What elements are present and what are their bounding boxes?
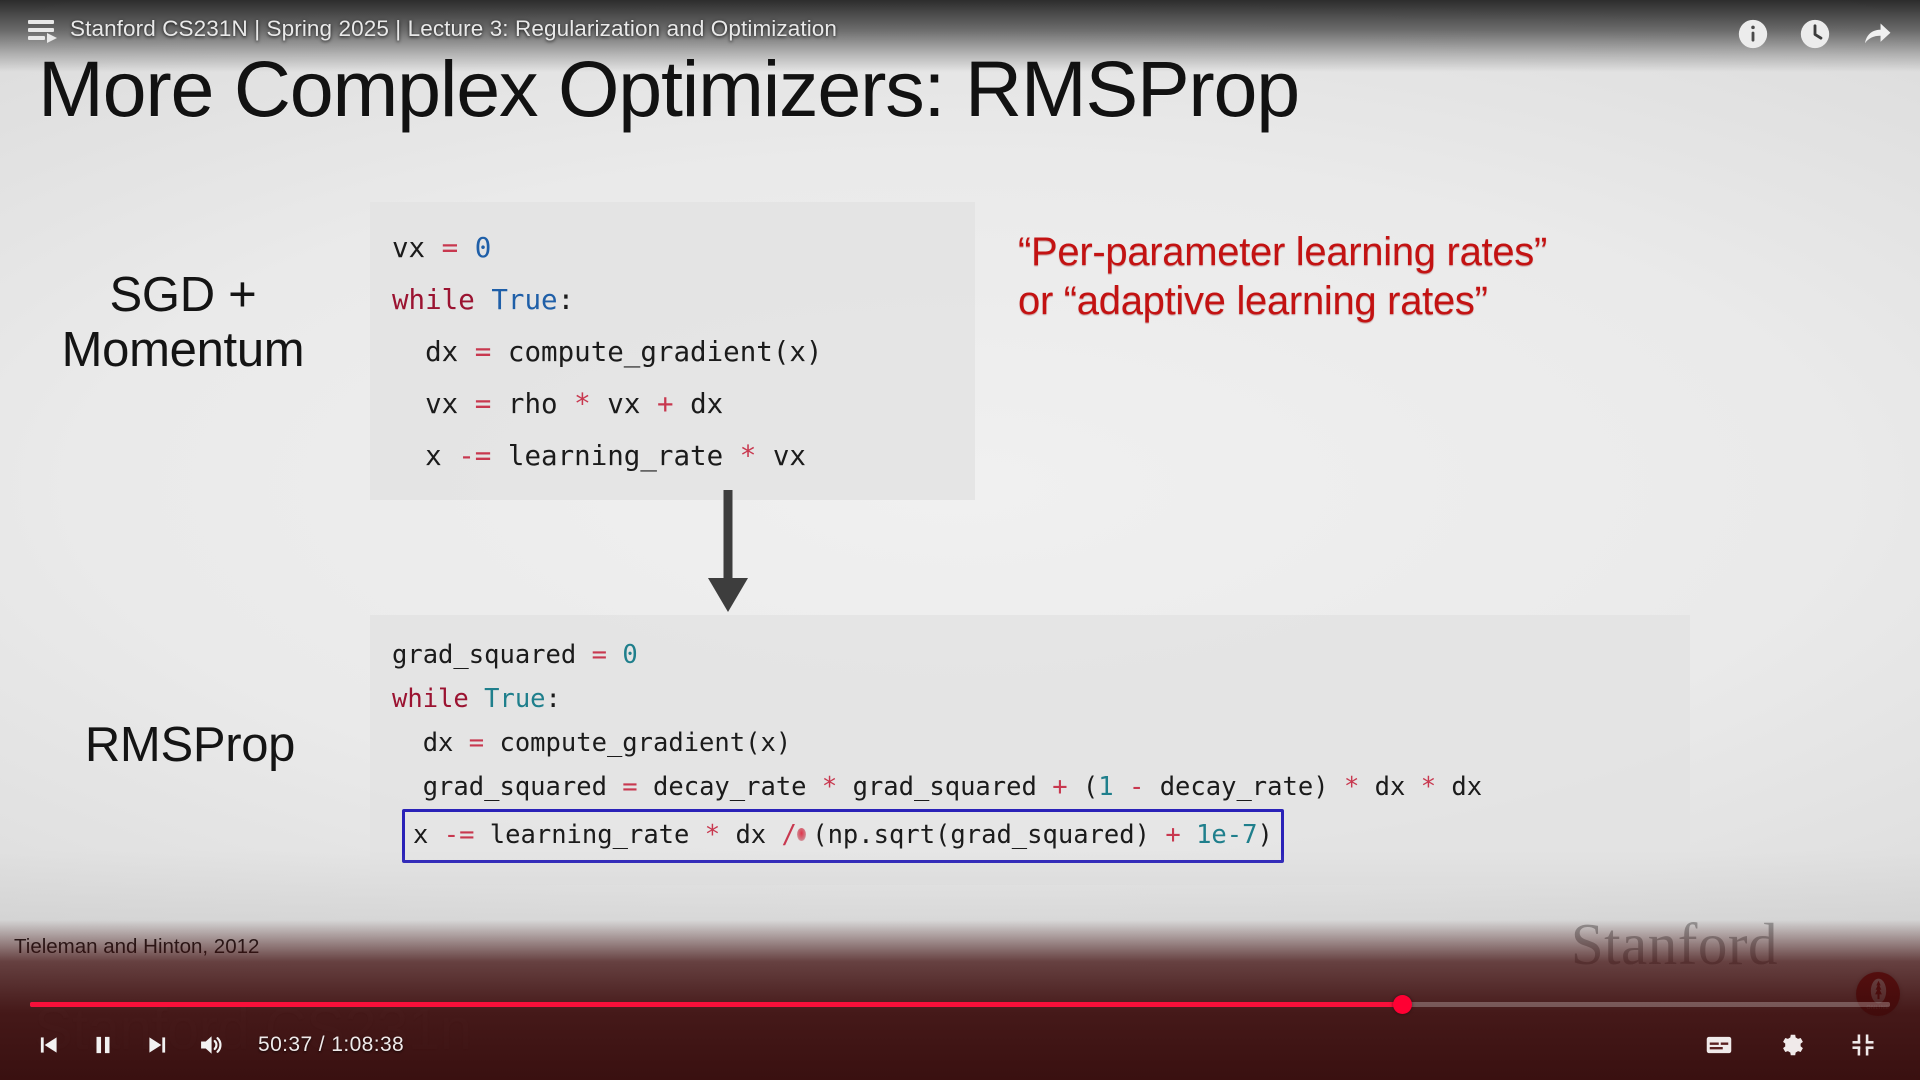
code-token: * <box>1344 772 1359 802</box>
code-token: x <box>413 820 444 850</box>
code-token: * <box>574 388 591 420</box>
code-token: / <box>782 820 797 850</box>
code-token: dx <box>1359 772 1420 802</box>
code-token: vx <box>392 232 442 264</box>
exit-fullscreen-icon[interactable] <box>1840 1022 1886 1068</box>
playlist-play-icon[interactable] <box>28 19 54 43</box>
code-token <box>458 232 475 264</box>
quote-adaptive-learning-rates: “Per-parameter learning rates”or “adapti… <box>1018 228 1718 326</box>
code-token: 1 <box>1098 772 1113 802</box>
code-token: dx <box>392 336 475 368</box>
code-block-rmsprop: grad_squared = 0while True: dx = compute… <box>370 615 1690 885</box>
subtitles-icon[interactable] <box>1696 1022 1742 1068</box>
code-token: -= <box>458 440 491 472</box>
code-token <box>607 640 622 670</box>
slide-canvas: More Complex Optimizers: RMSProp SGD +Mo… <box>0 0 1920 1080</box>
code-token: ( <box>1068 772 1099 802</box>
code-line: vx = rho * vx + dx <box>392 378 953 430</box>
video-title[interactable]: Stanford CS231N | Spring 2025 | Lecture … <box>70 16 837 42</box>
code-token: 1e-7 <box>1196 820 1257 850</box>
code-line: dx = compute_gradient(x) <box>392 326 953 378</box>
code-token: vx <box>392 388 475 420</box>
code-token: dx <box>720 820 781 850</box>
code-token: : <box>558 284 575 316</box>
pause-button[interactable] <box>80 1022 126 1068</box>
share-icon[interactable] <box>1860 17 1894 51</box>
label-rmsprop: RMSProp <box>30 718 350 773</box>
progress-played <box>30 1002 1403 1007</box>
code-token <box>1114 772 1129 802</box>
progress-bar[interactable] <box>30 1002 1890 1008</box>
code-token: while <box>392 284 475 316</box>
control-row-right <box>1696 1022 1894 1068</box>
code-token: = <box>475 336 492 368</box>
stanford-wordmark: Stanford <box>1571 910 1778 979</box>
code-token: compute_gradient(x) <box>484 728 791 758</box>
code-token <box>469 684 484 714</box>
mouse-cursor-dot <box>797 828 806 841</box>
code-token: = <box>592 640 607 670</box>
code-token: compute_gradient(x) <box>491 336 822 368</box>
code-token: 0 <box>475 232 492 264</box>
player-top-bar: Stanford CS231N | Spring 2025 | Lecture … <box>0 0 1920 72</box>
code-token: while <box>392 684 469 714</box>
down-arrow-icon <box>700 488 756 613</box>
code-token: dx <box>1436 772 1482 802</box>
time-display: 50:37 / 1:08:38 <box>258 1033 404 1057</box>
top-bar-actions <box>1736 17 1894 51</box>
video-player: More Complex Optimizers: RMSProp SGD +Mo… <box>0 0 1920 1080</box>
code-token: decay_rate) <box>1144 772 1344 802</box>
previous-button[interactable] <box>26 1022 72 1068</box>
code-token: learning_rate <box>491 440 739 472</box>
code-token: x <box>392 440 458 472</box>
code-token: = <box>469 728 484 758</box>
code-token: * <box>705 820 720 850</box>
code-token: - <box>1129 772 1144 802</box>
code-token: vx <box>756 440 806 472</box>
code-token: = <box>475 388 492 420</box>
code-token: * <box>1421 772 1436 802</box>
code-token: grad_squared <box>392 640 592 670</box>
code-token: -= <box>444 820 475 850</box>
code-token <box>1181 820 1196 850</box>
code-token: + <box>657 388 674 420</box>
citation: Tieleman and Hinton, 2012 <box>14 935 259 959</box>
control-row: 50:37 / 1:08:38 <box>0 1010 1920 1080</box>
code-token: = <box>622 772 637 802</box>
code-token <box>475 284 492 316</box>
code-token: learning_rate <box>474 820 704 850</box>
code-token: ) <box>1257 820 1272 850</box>
code-token: True <box>484 684 545 714</box>
info-icon[interactable] <box>1736 17 1770 51</box>
code-token: dx <box>392 728 469 758</box>
volume-button[interactable] <box>188 1022 234 1068</box>
code-token: = <box>442 232 459 264</box>
watch-later-icon[interactable] <box>1798 17 1832 51</box>
code-token: 0 <box>622 640 637 670</box>
code-line: while True: <box>392 677 1668 721</box>
code-line: x -= learning_rate * vx <box>392 430 953 482</box>
code-token: + <box>1052 772 1067 802</box>
code-line: vx = 0 <box>392 222 953 274</box>
code-line: grad_squared = 0 <box>392 633 1668 677</box>
code-token: + <box>1165 820 1180 850</box>
code-line: dx = compute_gradient(x) <box>392 721 1668 765</box>
code-token: rho <box>491 388 574 420</box>
code-token: grad_squared <box>392 772 622 802</box>
code-token: dx <box>674 388 724 420</box>
code-token: * <box>740 440 757 472</box>
code-line: grad_squared = decay_rate * grad_squared… <box>392 765 1668 809</box>
stanford-tree-icon <box>1870 978 1887 1004</box>
code-token: grad_squared <box>837 772 1052 802</box>
code-token: (np.sqrt(grad_squared) <box>797 820 1165 850</box>
code-block-sgd-momentum: vx = 0while True: dx = compute_gradient(… <box>370 202 975 500</box>
code-token: vx <box>591 388 657 420</box>
label-sgd-momentum: SGD +Momentum <box>8 268 358 378</box>
next-button[interactable] <box>134 1022 180 1068</box>
code-line: while True: <box>392 274 953 326</box>
settings-gear-icon[interactable] <box>1768 1022 1814 1068</box>
code-token: * <box>822 772 837 802</box>
code-token: decay_rate <box>638 772 822 802</box>
code-token: : <box>546 684 561 714</box>
code-token: True <box>491 284 557 316</box>
